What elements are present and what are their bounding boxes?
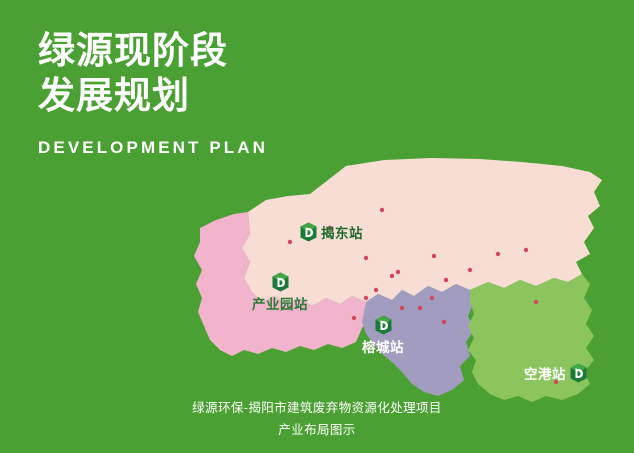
lvyuan-logo-icon [300, 222, 317, 242]
caption-line-2: 产业布局图示 [0, 420, 634, 442]
headline-line-1: 绿源现阶段 [38, 30, 368, 73]
slide-canvas: 绿源现阶段 发展规划 DEVELOPMENT PLAN [0, 0, 634, 453]
lvyuan-logo-icon [375, 315, 392, 335]
station-marker-jiedong[interactable]: 揭东站 [300, 222, 363, 242]
caption-line-1: 绿源环保-揭阳市建筑废弃物资源化处理项目 [0, 398, 634, 420]
station-label-jiedong: 揭东站 [321, 222, 363, 242]
title-block: 绿源现阶段 发展规划 DEVELOPMENT PLAN [38, 30, 368, 158]
station-label-konggang: 空港站 [524, 363, 566, 383]
station-marker-konggang[interactable]: 空港站 [524, 363, 587, 383]
station-label-rongcheng: 榕城站 [362, 336, 404, 356]
headline-line-2: 发展规划 [38, 75, 368, 118]
lvyuan-logo-icon [272, 272, 289, 292]
station-marker-chanyeyuan[interactable]: 产业园站 [252, 272, 308, 313]
station-marker-rongcheng[interactable]: 榕城站 [362, 315, 404, 356]
station-label-chanyeyuan: 产业园站 [252, 293, 308, 313]
caption-block: 绿源环保-揭阳市建筑废弃物资源化处理项目 产业布局图示 [0, 398, 634, 442]
lvyuan-logo-icon [570, 363, 587, 383]
